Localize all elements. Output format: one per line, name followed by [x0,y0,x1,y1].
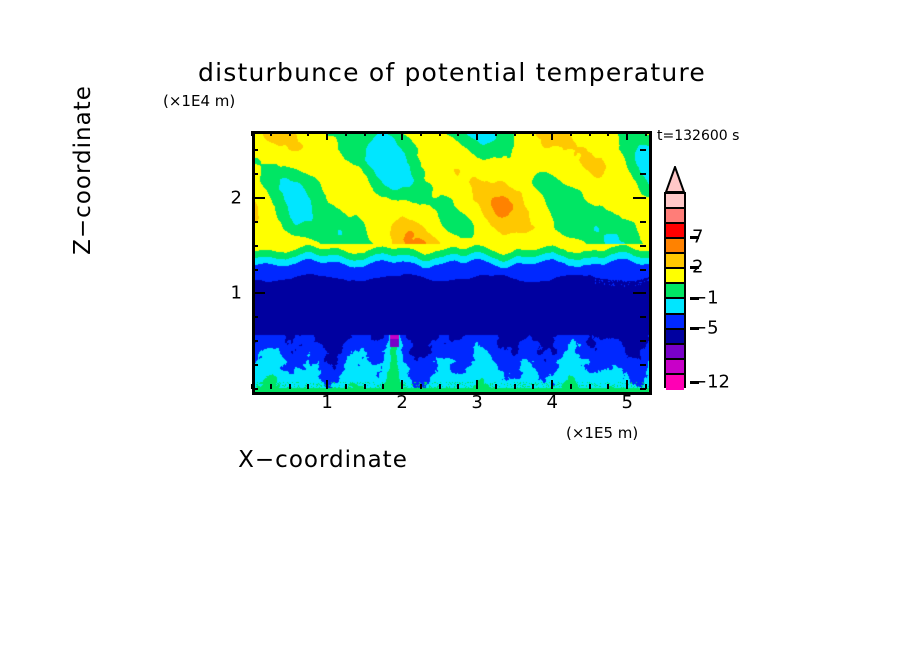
y-tick-label: 2 [212,187,242,208]
axis-tick [532,384,534,389]
axis-tick [252,173,258,175]
axis-tick [514,131,516,136]
axis-tick [364,131,366,136]
x-tick-label: 3 [471,392,482,413]
axis-tick [252,197,265,199]
axis-tick [270,384,272,389]
axis-tick [589,384,591,389]
axis-tick [589,131,591,136]
axis-tick [640,340,646,342]
axis-tick [326,380,328,389]
y-tick-label: 1 [212,283,242,304]
colorbar-extend-arrow [664,166,686,192]
colorbar-band [666,345,684,360]
axis-tick [270,131,272,136]
axis-tick [626,131,628,140]
colorbar-band [666,375,684,390]
axis-tick [252,316,258,318]
axis-tick [640,269,646,271]
figure-canvas: disturbunce of potential temperature (×1… [0,0,904,654]
axis-tick [640,221,646,223]
axis-tick [345,384,347,389]
axis-tick [551,380,553,389]
colorbar-band [666,299,684,314]
axis-tick [382,384,384,389]
axis-tick [640,245,646,247]
colorbar-band [666,224,684,239]
axis-tick [439,384,441,389]
axis-tick [514,384,516,389]
contour-field [255,134,649,392]
y-axis-title: Z−coordinate [70,50,100,290]
axis-tick [252,149,258,151]
axis-tick [640,173,646,175]
axis-tick [252,221,258,223]
colorbar-band [666,284,684,299]
axis-tick [420,384,422,389]
axis-tick [457,384,459,389]
axis-tick [640,316,646,318]
axis-tick [420,131,422,136]
axis-tick [645,131,647,136]
axis-tick [607,131,609,136]
colorbar-tick-label: −1 [692,287,719,308]
x-tick-label: 5 [622,392,633,413]
axis-tick [495,131,497,136]
axis-tick [382,131,384,136]
x-tick-label: 4 [546,392,557,413]
axis-tick [495,384,497,389]
axis-tick [252,340,258,342]
axis-tick [439,131,441,136]
axis-tick [401,380,403,389]
axis-tick [640,149,646,151]
axis-tick [570,384,572,389]
timestamp-annotation: t=132600 s [657,128,739,144]
x-axis-unit-label: (×1E5 m) [566,424,638,442]
colorbar-tick-label: −5 [692,317,719,338]
axis-tick [252,269,258,271]
colorbar-band [666,360,684,375]
axis-tick [640,388,646,390]
axis-tick [252,388,258,390]
x-axis-title: X−coordinate [0,447,646,473]
colorbar-band [666,194,684,209]
axis-tick [252,245,258,247]
axis-tick [633,292,646,294]
contour-plot-area [252,131,652,395]
colorbar-tick-label: 2 [692,257,703,278]
axis-tick [607,384,609,389]
axis-tick [640,364,646,366]
axis-tick [307,384,309,389]
colorbar-band [666,330,684,345]
chart-title: disturbunce of potential temperature [0,58,904,87]
colorbar-band [666,269,684,284]
axis-tick [633,197,646,199]
axis-tick [532,131,534,136]
colorbar-band [666,315,684,330]
axis-tick [457,131,459,136]
axis-tick [551,131,553,140]
x-tick-label: 1 [321,392,332,413]
axis-tick [345,131,347,136]
axis-tick [289,131,291,136]
axis-tick [326,131,328,140]
colorbar-tick-label: −12 [692,371,730,392]
colorbar-band [666,239,684,254]
axis-tick [364,384,366,389]
axis-tick [626,380,628,389]
x-tick-label: 2 [396,392,407,413]
axis-tick [476,380,478,389]
axis-tick [307,131,309,136]
axis-tick [252,292,265,294]
colorbar-band [666,254,684,269]
axis-tick [252,364,258,366]
colorbar [664,192,686,388]
axis-tick [570,131,572,136]
colorbar-tick-label: 7 [692,227,703,248]
axis-tick [289,384,291,389]
colorbar-band [666,209,684,224]
axis-tick [401,131,403,140]
z-axis-unit-label: (×1E4 m) [163,92,235,110]
axis-tick [251,131,253,136]
axis-tick [476,131,478,140]
